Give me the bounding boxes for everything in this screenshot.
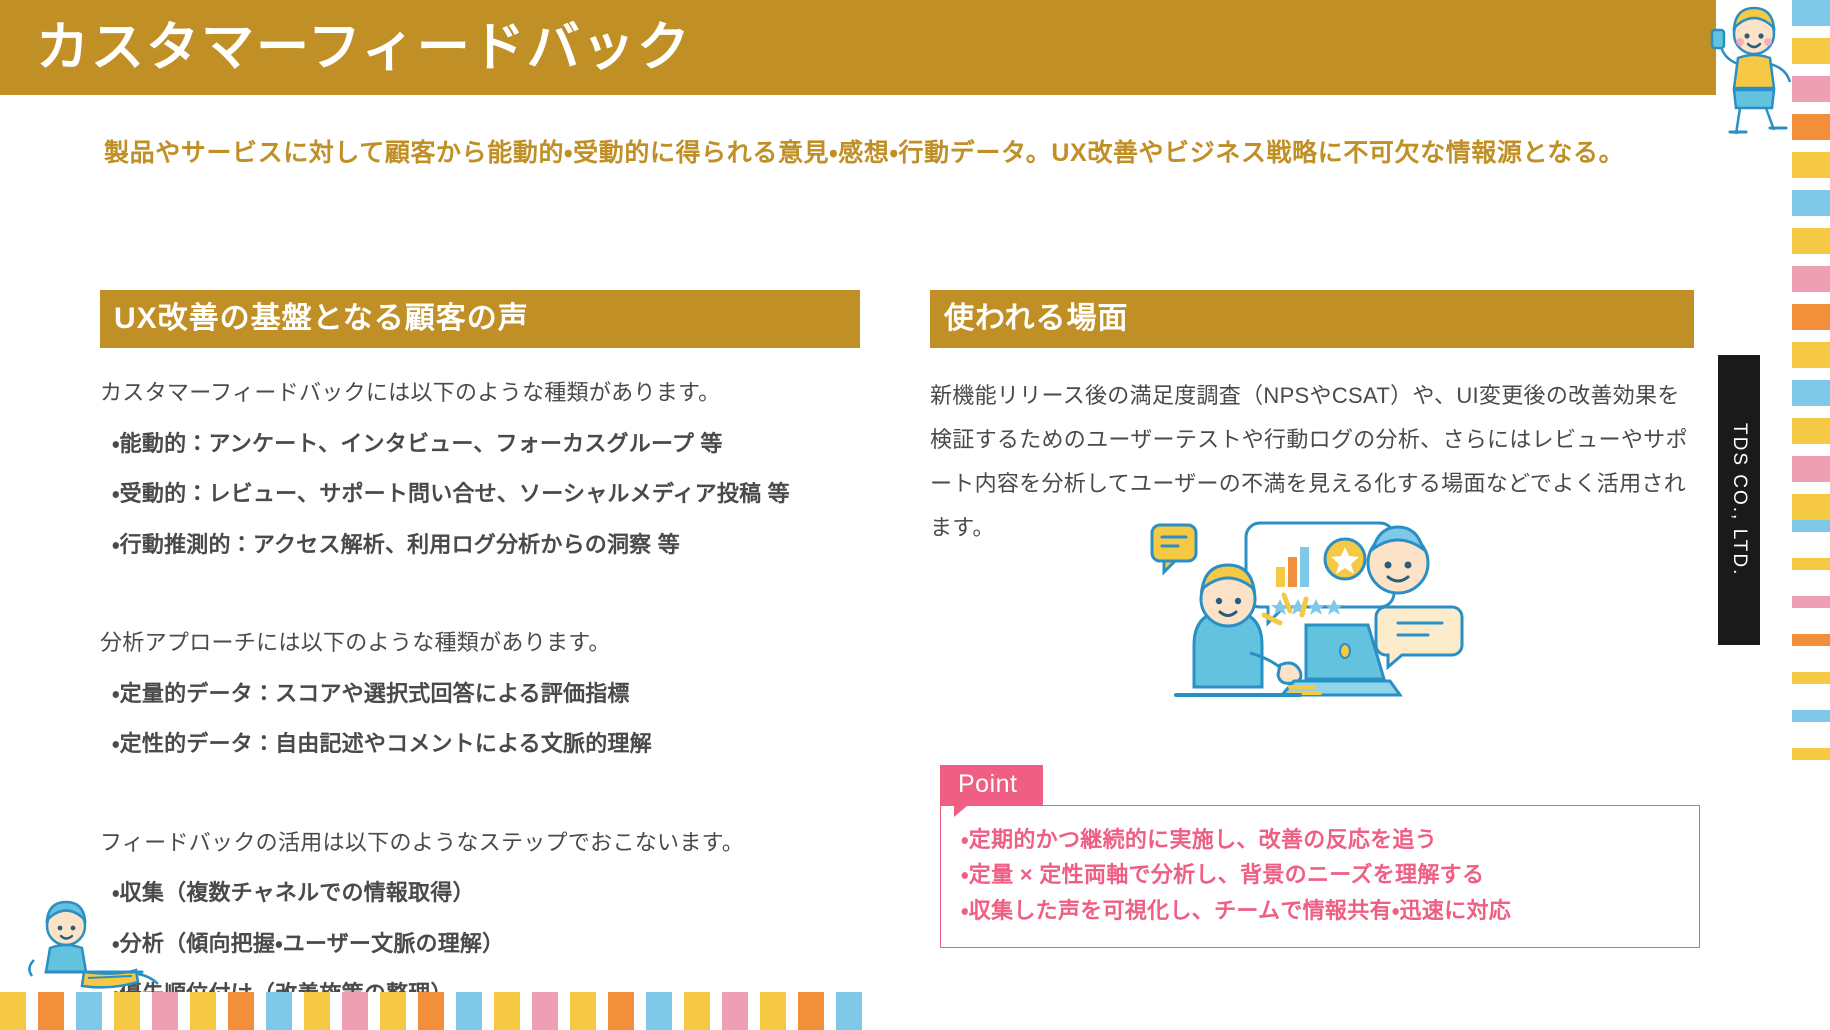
stripe-segment — [786, 992, 798, 1030]
stripe-segment — [1792, 266, 1830, 292]
stripe-segment — [1792, 292, 1830, 304]
stripe-segment — [1792, 190, 1830, 216]
stripe-segment — [38, 992, 64, 1030]
list-item: ・定量的データ：スコアや選択式回答による評価指標 — [100, 675, 860, 714]
list-item: ・収集（複数チャネルでの情報取得） — [100, 874, 860, 913]
list-item: ・行動推測的：アクセス解析、利用ログ分析からの洞察 等 — [100, 526, 860, 565]
stripe-segment — [1792, 748, 1830, 760]
stripe-segment — [634, 992, 646, 1030]
stripe-segment — [570, 992, 596, 1030]
left-intro-3: フィードバックの活用は以下のようなステップでおこないます。 — [100, 824, 860, 863]
stripe-segment — [798, 992, 824, 1030]
stripe-segment — [1792, 482, 1830, 494]
stripe-segment — [1792, 64, 1830, 76]
stripe-segment — [520, 992, 532, 1030]
stripe-segment — [1792, 494, 1830, 520]
right-section-heading: 使われる場面 — [930, 290, 1694, 348]
slide-page: カスタマーフィードバック 製品やサービスに対して顧客から能動的・受動的に得られる… — [0, 0, 1830, 1030]
stripe-segment — [722, 992, 748, 1030]
stripe-segment — [1792, 520, 1830, 532]
company-side-label-text: TDS CO., LTD. — [1728, 423, 1750, 576]
stripe-segment — [684, 992, 710, 1030]
stripe-segment — [1792, 342, 1830, 368]
lead-paragraph: 製品やサービスに対して顧客から能動的・受動的に得られる意見・感想・行動データ。U… — [104, 128, 1674, 179]
stripe-segment — [228, 992, 254, 1030]
stripe-segment — [532, 992, 558, 1030]
stripe-segment — [190, 992, 216, 1030]
left-section-body: カスタマーフィードバックには以下のような種類があります。 ・能動的：アンケート、… — [100, 374, 860, 1030]
stripe-segment — [1792, 722, 1830, 748]
stripe-segment — [1792, 330, 1830, 342]
stripe-segment — [596, 992, 608, 1030]
stripe-segment — [1792, 140, 1830, 152]
stripe-segment — [1792, 684, 1830, 710]
stripe-segment — [368, 992, 380, 1030]
stripe-segment — [608, 992, 634, 1030]
stripe-segment — [1792, 76, 1830, 102]
stripe-segment — [1792, 114, 1830, 140]
spacer — [100, 764, 860, 798]
stripe-segment — [1792, 216, 1830, 228]
stripe-segment — [1792, 456, 1830, 482]
left-intro-2: 分析アプローチには以下のような種類があります。 — [100, 624, 860, 663]
stripe-segment — [1792, 570, 1830, 596]
left-column: UX改善の基盤となる顧客の声 カスタマーフィードバックには以下のような種類があり… — [100, 290, 860, 1030]
stripe-segment — [1792, 596, 1830, 608]
stripe-segment — [76, 992, 102, 1030]
right-stripe-decoration — [1792, 0, 1830, 1030]
stripe-segment — [1792, 380, 1830, 406]
stripe-segment — [1792, 532, 1830, 558]
stripe-segment — [102, 992, 114, 1030]
stripe-segment — [1792, 608, 1830, 634]
stripe-segment — [1792, 26, 1830, 38]
company-side-label: TDS CO., LTD. — [1718, 355, 1760, 645]
stripe-segment — [1792, 710, 1830, 722]
stripe-segment — [456, 992, 482, 1030]
stripe-segment — [1792, 646, 1830, 672]
stripe-segment — [482, 992, 494, 1030]
page-title-bar: カスタマーフィードバック — [0, 0, 1716, 95]
stripe-segment — [216, 992, 228, 1030]
stripe-segment — [406, 992, 418, 1030]
stripe-segment — [304, 992, 330, 1030]
list-item: ・定性的データ：自由記述やコメントによる文脈的理解 — [100, 725, 860, 764]
stripe-segment — [862, 992, 874, 1030]
point-item: ・収集した声を可視化し、チームで情報共有・迅速に対応 — [961, 893, 1679, 929]
stripe-segment — [748, 992, 760, 1030]
stripe-segment — [1792, 558, 1830, 570]
stripe-segment — [64, 992, 76, 1030]
stripe-segment — [140, 992, 152, 1030]
stripe-segment — [1792, 444, 1830, 456]
list-item: ・分析（傾向把握・ユーザー文脈の理解） — [100, 925, 860, 964]
stripe-segment — [1792, 38, 1830, 64]
stripe-segment — [266, 992, 292, 1030]
stripe-segment — [1792, 102, 1830, 114]
stripe-segment — [1792, 368, 1830, 380]
point-tag-label: Point — [940, 765, 1043, 806]
right-column: 使われる場面 新機能リリース後の満足度調査（NPSやCSAT）や、UI変更後の改… — [930, 290, 1690, 550]
stripe-segment — [824, 992, 836, 1030]
stripe-segment — [1792, 406, 1830, 418]
stripe-segment — [1792, 254, 1830, 266]
stripe-segment — [1792, 418, 1830, 444]
stripe-segment — [1792, 0, 1830, 26]
list-item: ・受動的：レビュー、サポート問い合せ、ソーシャルメディア投稿 等 — [100, 475, 860, 514]
stripe-segment — [0, 992, 26, 1030]
stripe-segment — [558, 992, 570, 1030]
person-typing-laptop-feedback-illustration — [1140, 515, 1470, 720]
bottom-stripe-decoration — [0, 992, 1716, 1030]
stripe-segment — [1792, 304, 1830, 330]
stripe-segment — [494, 992, 520, 1030]
stripe-segment — [1792, 228, 1830, 254]
stripe-segment — [1792, 178, 1830, 190]
spacer — [100, 564, 860, 598]
stripe-segment — [342, 992, 368, 1030]
stripe-segment — [646, 992, 672, 1030]
left-intro-1: カスタマーフィードバックには以下のような種類があります。 — [100, 374, 860, 413]
boy-reading-book-illustration — [18, 900, 188, 995]
stripe-segment — [672, 992, 684, 1030]
stripe-segment — [836, 992, 862, 1030]
point-callout: Point ・定期的かつ継続的に実施し、改善の反応を追う ・定量 × 定性両軸で… — [940, 765, 1700, 948]
stripe-segment — [760, 992, 786, 1030]
stripe-segment — [380, 992, 406, 1030]
page-title: カスタマーフィードバック — [36, 21, 692, 74]
stripe-segment — [444, 992, 456, 1030]
point-box: ・定期的かつ継続的に実施し、改善の反応を追う ・定量 × 定性両軸で分析し、背景… — [940, 805, 1700, 948]
stripe-segment — [26, 992, 38, 1030]
stripe-segment — [152, 992, 178, 1030]
stripe-segment — [292, 992, 304, 1030]
stripe-segment — [330, 992, 342, 1030]
stripe-segment — [1792, 152, 1830, 178]
stripe-segment — [1792, 634, 1830, 646]
list-item: ・能動的：アンケート、インタビュー、フォーカスグループ 等 — [100, 425, 860, 464]
stripe-segment — [114, 992, 140, 1030]
stripe-segment — [1792, 672, 1830, 684]
left-section-heading: UX改善の基盤となる顧客の声 — [100, 290, 860, 348]
stripe-segment — [254, 992, 266, 1030]
stripe-segment — [710, 992, 722, 1030]
point-item: ・定量 × 定性両軸で分析し、背景のニーズを理解する — [961, 857, 1679, 893]
point-item: ・定期的かつ継続的に実施し、改善の反応を追う — [961, 822, 1679, 858]
stripe-segment — [178, 992, 190, 1030]
stripe-segment — [418, 992, 444, 1030]
